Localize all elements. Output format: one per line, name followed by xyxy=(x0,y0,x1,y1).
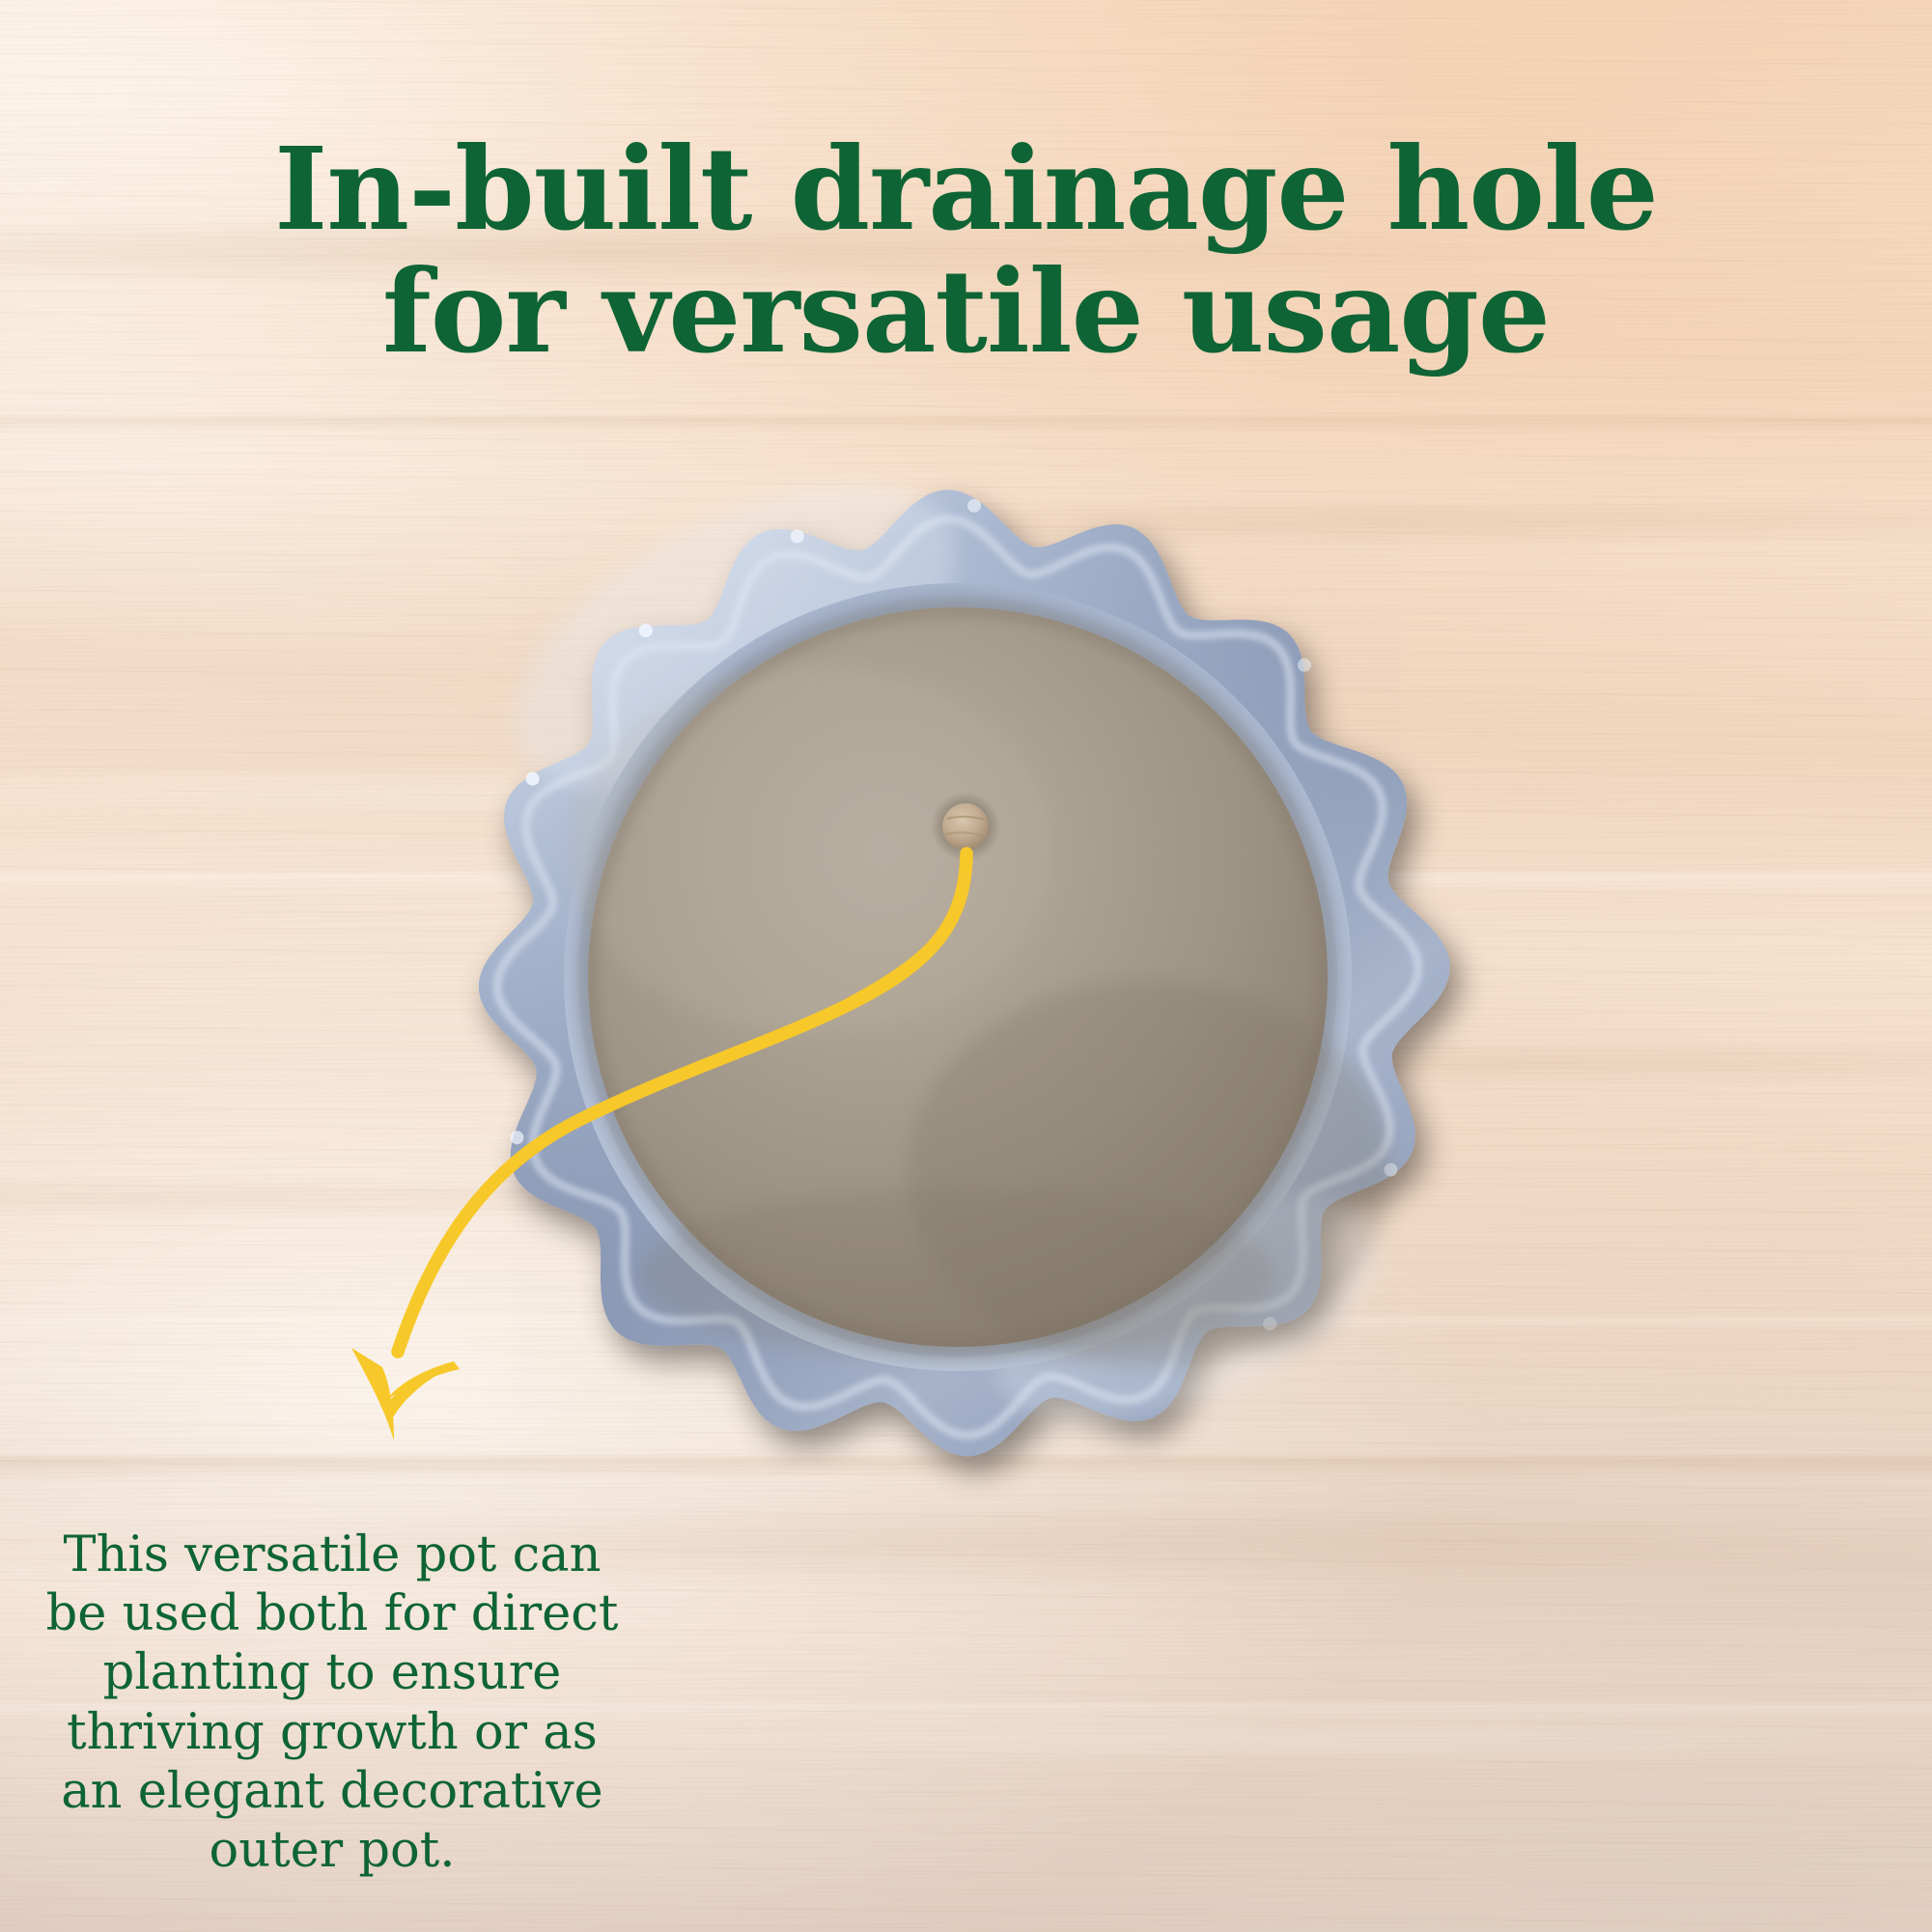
caption-line-1: This versatile pot can xyxy=(37,1526,628,1584)
rim-specular-dot xyxy=(510,1131,523,1144)
headline-line-2: for versatile usage xyxy=(0,250,1932,373)
caption-text: This versatile pot can be used both for … xyxy=(37,1526,628,1880)
caption-line-5: an elegant decorative xyxy=(37,1762,628,1821)
headline-line-1: In-built drainage hole xyxy=(274,122,1658,256)
rim-specular-dot xyxy=(526,772,540,786)
caption-line-2: be used both for direct xyxy=(37,1584,628,1643)
rim-specular-dot xyxy=(967,499,981,513)
arrow-head-tail xyxy=(351,1348,394,1441)
infographic-canvas: In-built drainage hole for versatile usa… xyxy=(0,0,1932,1932)
drainage-hole-icon xyxy=(942,803,989,850)
caption-line-4: thriving growth or as xyxy=(37,1703,628,1762)
caption-line-3: planting to ensure xyxy=(37,1643,628,1702)
rim-specular-dot xyxy=(1298,658,1311,672)
caption-line-6: outer pot. xyxy=(37,1821,628,1880)
headline: In-built drainage hole for versatile usa… xyxy=(0,127,1932,374)
